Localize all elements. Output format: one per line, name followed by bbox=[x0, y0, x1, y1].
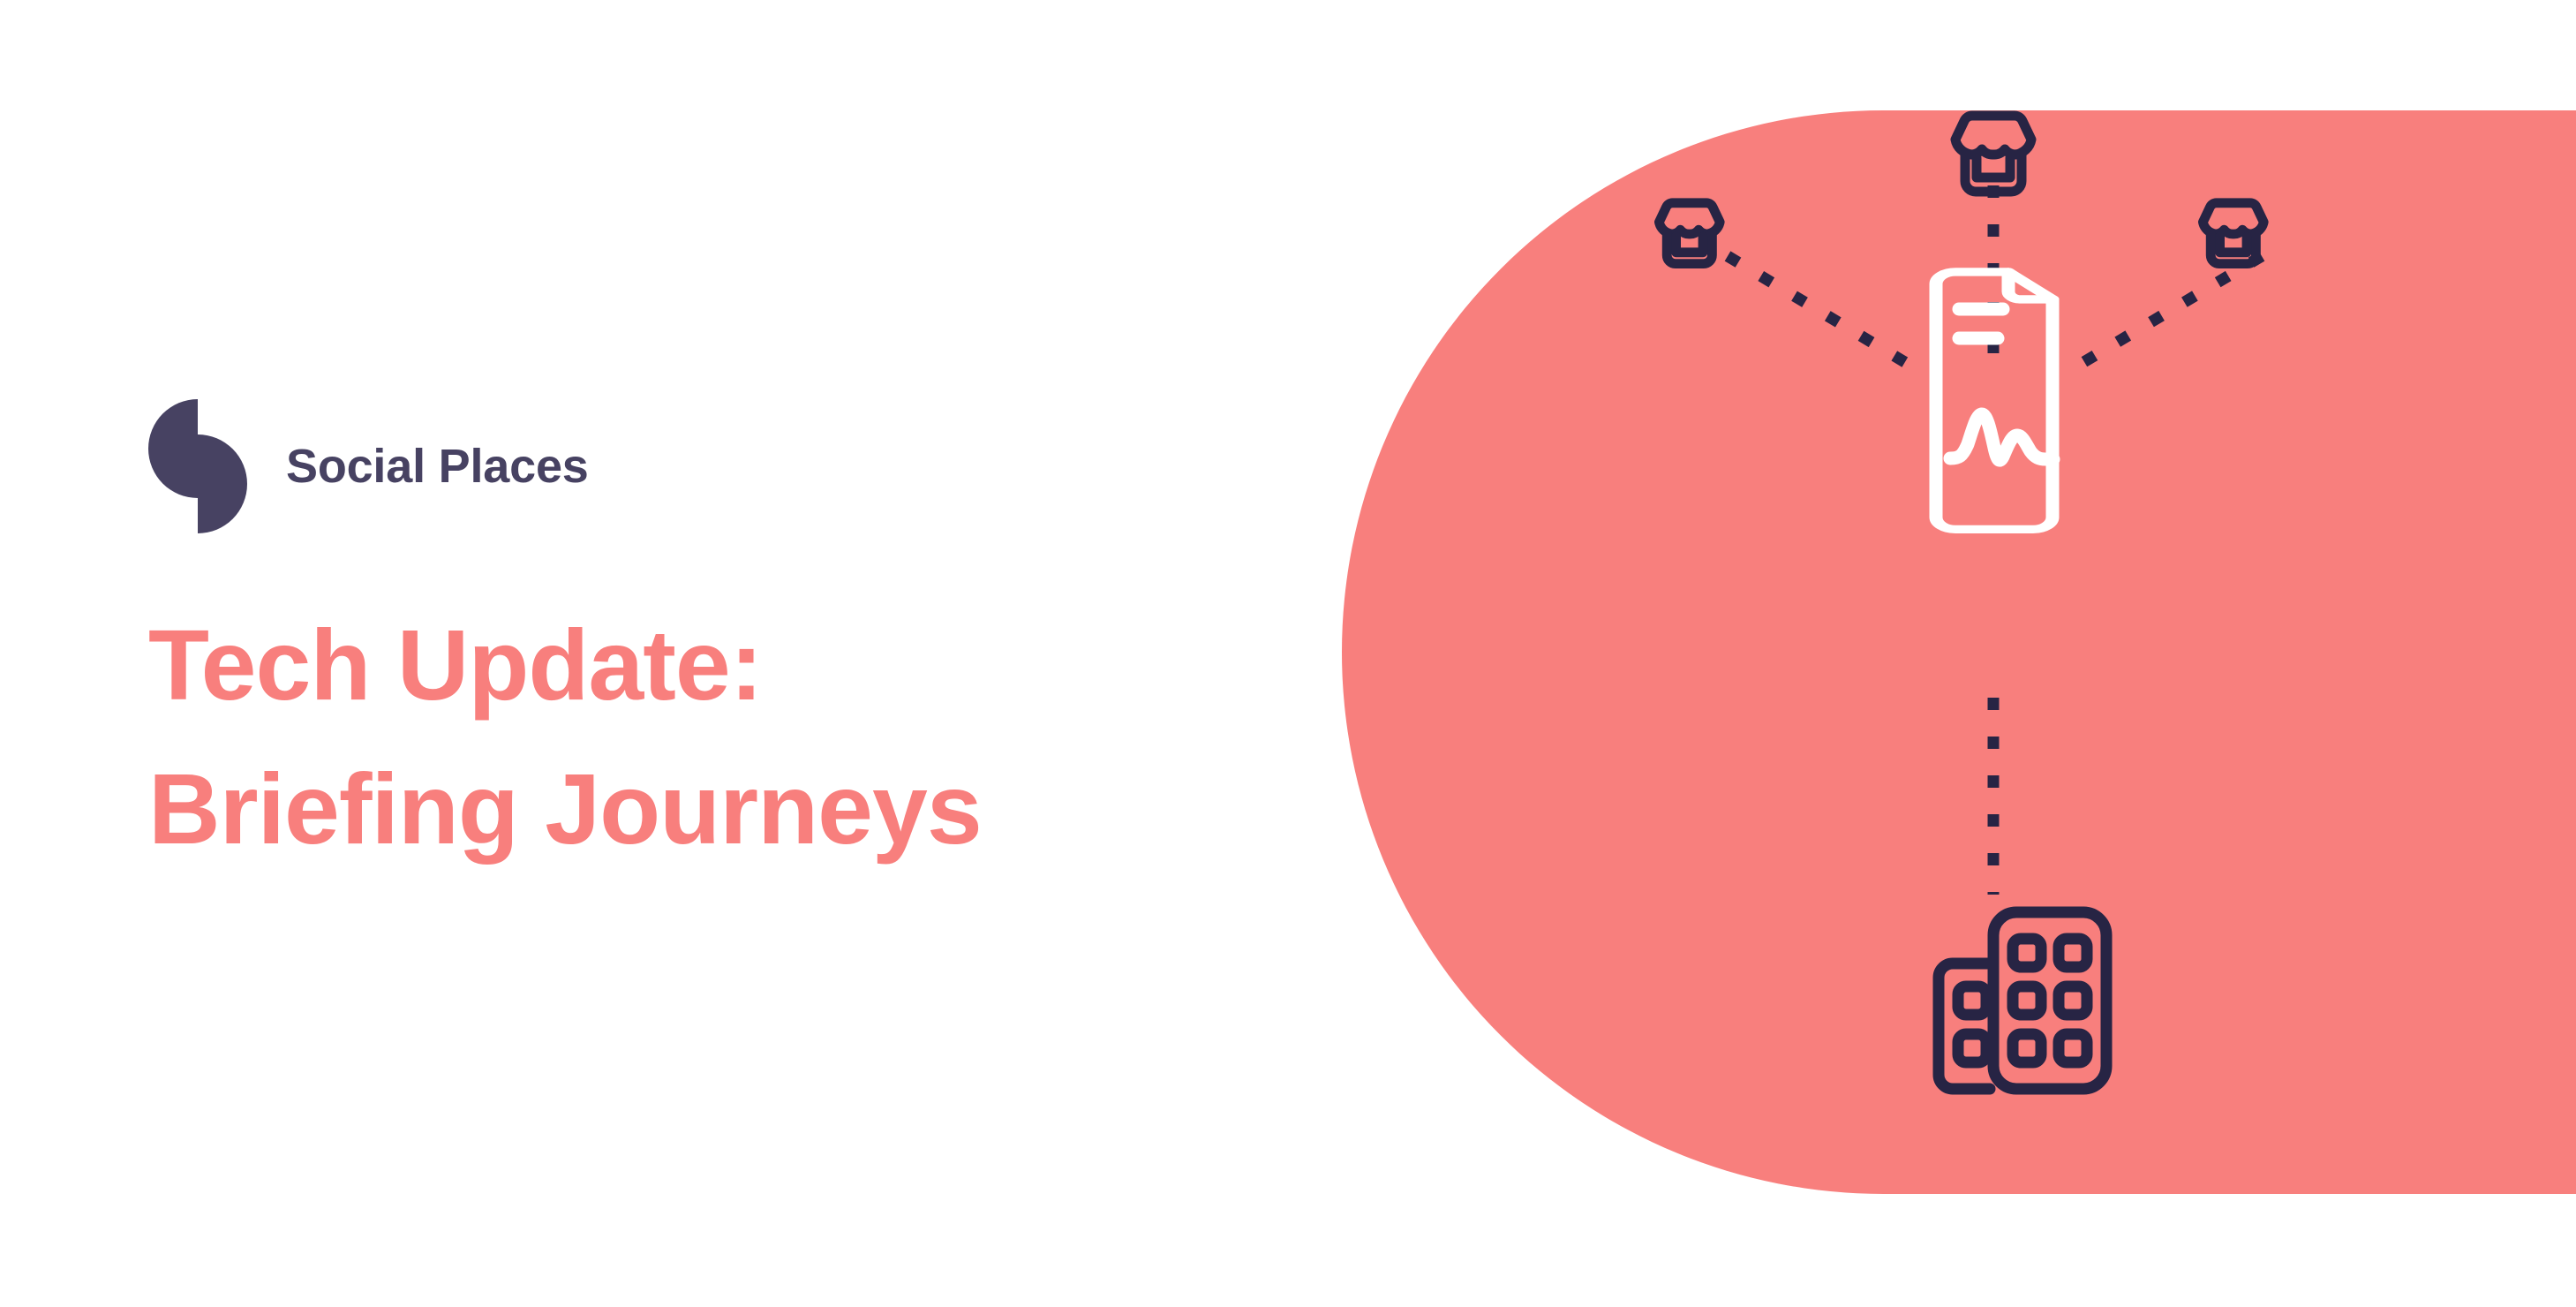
slide-canvas: Social Places Tech Update: Briefing Jour… bbox=[0, 0, 2576, 1307]
office-buildings-icon bbox=[1939, 912, 2106, 1089]
storefront-icon-right bbox=[2203, 203, 2263, 264]
brand-lockup: Social Places bbox=[148, 399, 589, 533]
social-places-logo-icon bbox=[148, 399, 247, 533]
page-title-line-2: Briefing Journeys bbox=[148, 737, 1190, 881]
page-title: Tech Update: Briefing Journeys bbox=[148, 593, 1190, 880]
brand-name: Social Places bbox=[286, 442, 589, 490]
connector-upper-right bbox=[2076, 256, 2262, 366]
connector-upper-left bbox=[1728, 256, 1912, 366]
storefront-icon-top bbox=[1955, 116, 2031, 192]
connector-group bbox=[1728, 185, 2262, 895]
storefront-icon-left bbox=[1659, 203, 1720, 264]
document-report-icon bbox=[1936, 272, 2053, 529]
briefing-network-diagram bbox=[1342, 110, 2576, 1194]
page-title-line-1: Tech Update: bbox=[148, 593, 1190, 737]
